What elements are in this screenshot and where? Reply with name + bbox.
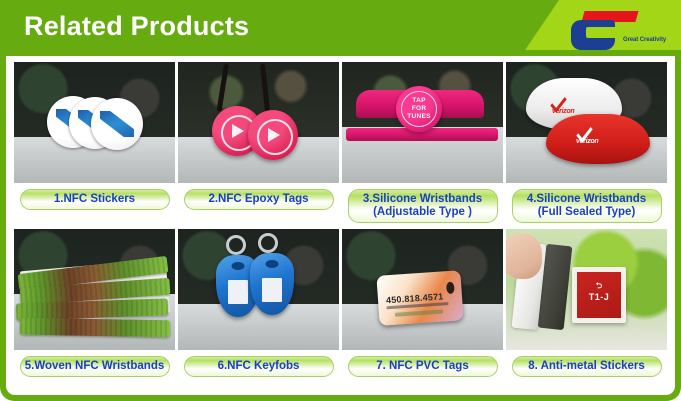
nfc-keyfobs-photo[interactable]: [178, 229, 339, 350]
logo-c-notch-shape: [586, 27, 618, 38]
product-label-line1: 5.Woven NFC Wristbands: [25, 360, 165, 373]
nfc-pvc-tags-photo[interactable]: 450.818.4571: [342, 229, 503, 350]
product-row: 5.Woven NFC Wristbands: [14, 229, 667, 377]
company-logo: Great Creativity: [547, 7, 667, 51]
verizon-wordmark: verizon: [576, 138, 598, 145]
product-label[interactable]: 5.Woven NFC Wristbands: [20, 356, 170, 377]
product-label-line2: (Full Sealed Type): [538, 206, 636, 219]
keyfob-label: [228, 280, 248, 304]
key-ring-icon: [258, 233, 278, 253]
play-triangle-icon: [268, 128, 280, 142]
keyfob-label: [262, 278, 282, 302]
epoxy-tag: [248, 110, 298, 160]
product-card[interactable]: 450.818.4571 7. NFC PVC Tags: [342, 229, 503, 377]
band-text-line1: TAP: [396, 97, 442, 105]
product-card[interactable]: TAP FOR TUNES 3.Silicone Wristbands (Adj…: [342, 62, 503, 223]
product-label-line1: 4.Silicone Wristbands: [527, 193, 646, 206]
product-card[interactable]: 2.NFC Epoxy Tags: [178, 62, 339, 223]
pvc-tag-hole: [446, 282, 455, 295]
nfc-epoxy-tags-photo[interactable]: [178, 62, 339, 183]
wristband-face: TAP FOR TUNES: [396, 86, 442, 132]
key-ring-icon: [226, 235, 246, 255]
wristband-face-text: TAP FOR TUNES: [396, 97, 442, 121]
silicone-wristband-sealed-photo[interactable]: verizon verizon: [506, 62, 667, 183]
keyfob-hole: [232, 262, 245, 270]
pvc-tag: 450.818.4571: [376, 270, 463, 326]
product-label[interactable]: 1.NFC Stickers: [20, 189, 170, 210]
product-label[interactable]: 3.Silicone Wristbands (Adjustable Type ): [348, 189, 498, 223]
verizon-wordmark: verizon: [552, 108, 574, 115]
nfc-sticker-disc: [91, 98, 143, 150]
content-frame: 1.NFC Stickers: [0, 50, 681, 401]
silicone-wristband-adjustable-photo[interactable]: TAP FOR TUNES: [342, 62, 503, 183]
card-code-text: T1-J: [577, 292, 621, 302]
product-label[interactable]: 6.NFC Keyfobs: [184, 356, 334, 377]
product-label[interactable]: 4.Silicone Wristbands (Full Sealed Type): [512, 189, 662, 223]
product-label-line1: 7. NFC PVC Tags: [376, 360, 468, 373]
keyfob-hole: [266, 260, 279, 268]
product-label-line1: 2.NFC Epoxy Tags: [208, 193, 308, 206]
content-panel: 1.NFC Stickers: [6, 56, 675, 395]
photo-table-surface: [178, 304, 339, 350]
product-label-line1: 8. Anti-metal Stickers: [528, 360, 645, 373]
product-grid: 1.NFC Stickers: [14, 62, 667, 377]
anti-metal-stickers-photo[interactable]: ⮌ T1-J: [506, 229, 667, 350]
red-card-face: ⮌ T1-J: [577, 272, 621, 318]
product-card[interactable]: verizon verizon 4.Silicone Wristbands (F…: [506, 62, 667, 223]
product-card[interactable]: ⮌ T1-J 8. Anti-metal Stickers: [506, 229, 667, 377]
band-text-line3: TUNES: [396, 113, 442, 121]
related-products-page: Related Products Great Creativity: [0, 0, 681, 401]
product-label[interactable]: 2.NFC Epoxy Tags: [184, 189, 334, 210]
logo-wordmark: Great Creativity: [623, 37, 666, 43]
woven-nfc-wristbands-photo[interactable]: [14, 229, 175, 350]
pvc-tag-secondary-line: [395, 309, 443, 316]
product-label-line2: (Adjustable Type ): [373, 206, 472, 219]
product-label[interactable]: 8. Anti-metal Stickers: [512, 356, 662, 377]
product-label-line1: 3.Silicone Wristbands: [363, 193, 482, 206]
red-reference-card: ⮌ T1-J: [572, 267, 626, 323]
nfc-stickers-photo[interactable]: [14, 62, 175, 183]
product-label[interactable]: 7. NFC PVC Tags: [348, 356, 498, 377]
woven-wristband: [20, 318, 170, 338]
product-label-line1: 6.NFC Keyfobs: [218, 360, 300, 373]
product-card[interactable]: 6.NFC Keyfobs: [178, 229, 339, 377]
logo-c-mark-icon: [571, 20, 621, 50]
product-card[interactable]: 1.NFC Stickers: [14, 62, 175, 223]
play-triangle-icon: [232, 124, 244, 138]
page-title: Related Products: [24, 9, 249, 43]
page-header: Related Products Great Creativity: [0, 0, 681, 56]
wristband-red: verizon: [546, 114, 650, 164]
hand-finger: [506, 233, 542, 279]
product-row: 1.NFC Stickers: [14, 62, 667, 223]
product-card[interactable]: 5.Woven NFC Wristbands: [14, 229, 175, 377]
product-label-line1: 1.NFC Stickers: [54, 193, 135, 206]
nfc-n-mark-icon: [100, 111, 134, 137]
band-text-line2: FOR: [396, 105, 442, 113]
